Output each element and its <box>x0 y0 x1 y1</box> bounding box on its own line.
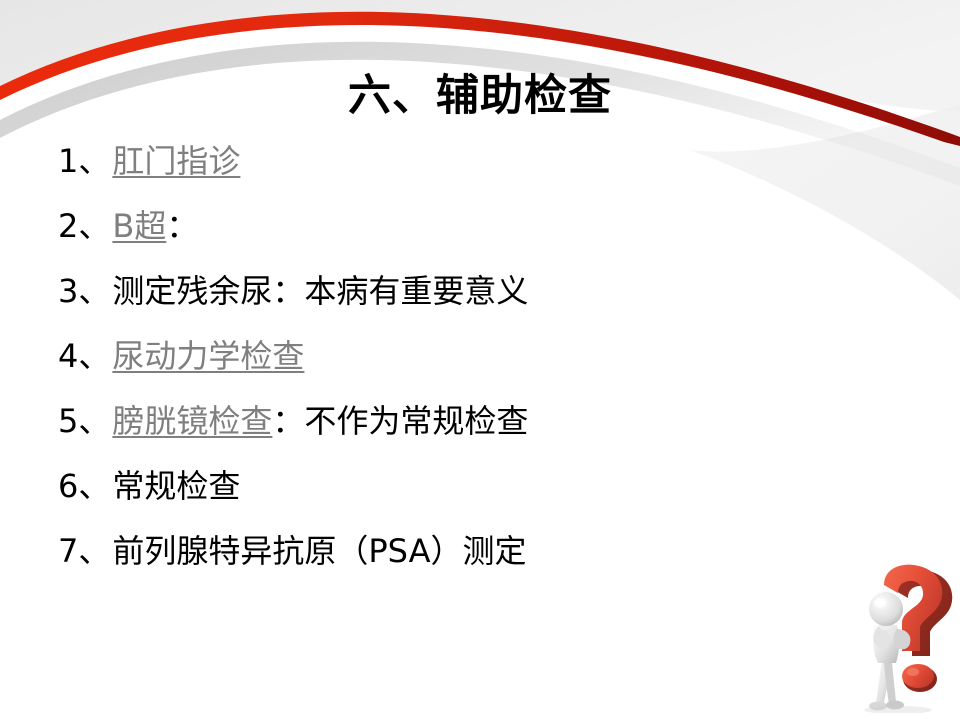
list-item-number: 4、 <box>58 340 112 372</box>
list-item: 6、 常规检查 <box>58 453 918 518</box>
list-item: 5、 膀胱镜检查 ：不作为常规检查 <box>58 388 918 453</box>
list-item-text: 测定残余尿：本病有重要意义 <box>112 275 528 307</box>
list-item: 7、 前列腺特异抗原（PSA）测定 <box>58 518 918 583</box>
list-item-number: 6、 <box>58 470 112 502</box>
list-item-text: 前列腺特异抗原（PSA）测定 <box>112 535 526 567</box>
list-item: 4、 尿动力学检查 <box>58 323 918 388</box>
list-item-link[interactable]: B超 <box>112 210 166 242</box>
list-item-text: 常规检查 <box>112 470 240 502</box>
list-item-number: 7、 <box>58 535 112 567</box>
content-list: 1、 肛门指诊 2、 B超 ： 3、 测定残余尿：本病有重要意义 4、 尿动力学… <box>58 128 918 583</box>
list-item-text: ：不作为常规检查 <box>272 405 528 437</box>
list-item: 3、 测定残余尿：本病有重要意义 <box>58 258 918 323</box>
slide-canvas: 六、辅助检查 1、 肛门指诊 2、 B超 ： 3、 测定残余尿：本病有重要意义 … <box>0 0 960 720</box>
list-item-text: ： <box>166 210 198 242</box>
question-mark-thinking-figure-icon <box>848 563 960 713</box>
list-item-number: 3、 <box>58 275 112 307</box>
list-item-number: 1、 <box>58 145 112 177</box>
list-item-link[interactable]: 尿动力学检查 <box>112 340 304 372</box>
list-item: 1、 肛门指诊 <box>58 128 918 193</box>
page-title: 六、辅助检查 <box>0 74 960 119</box>
list-item-link[interactable]: 膀胱镜检查 <box>112 405 272 437</box>
list-item: 2、 B超 ： <box>58 193 918 258</box>
list-item-number: 5、 <box>58 405 112 437</box>
list-item-link[interactable]: 肛门指诊 <box>112 145 240 177</box>
list-item-number: 2、 <box>58 210 112 242</box>
